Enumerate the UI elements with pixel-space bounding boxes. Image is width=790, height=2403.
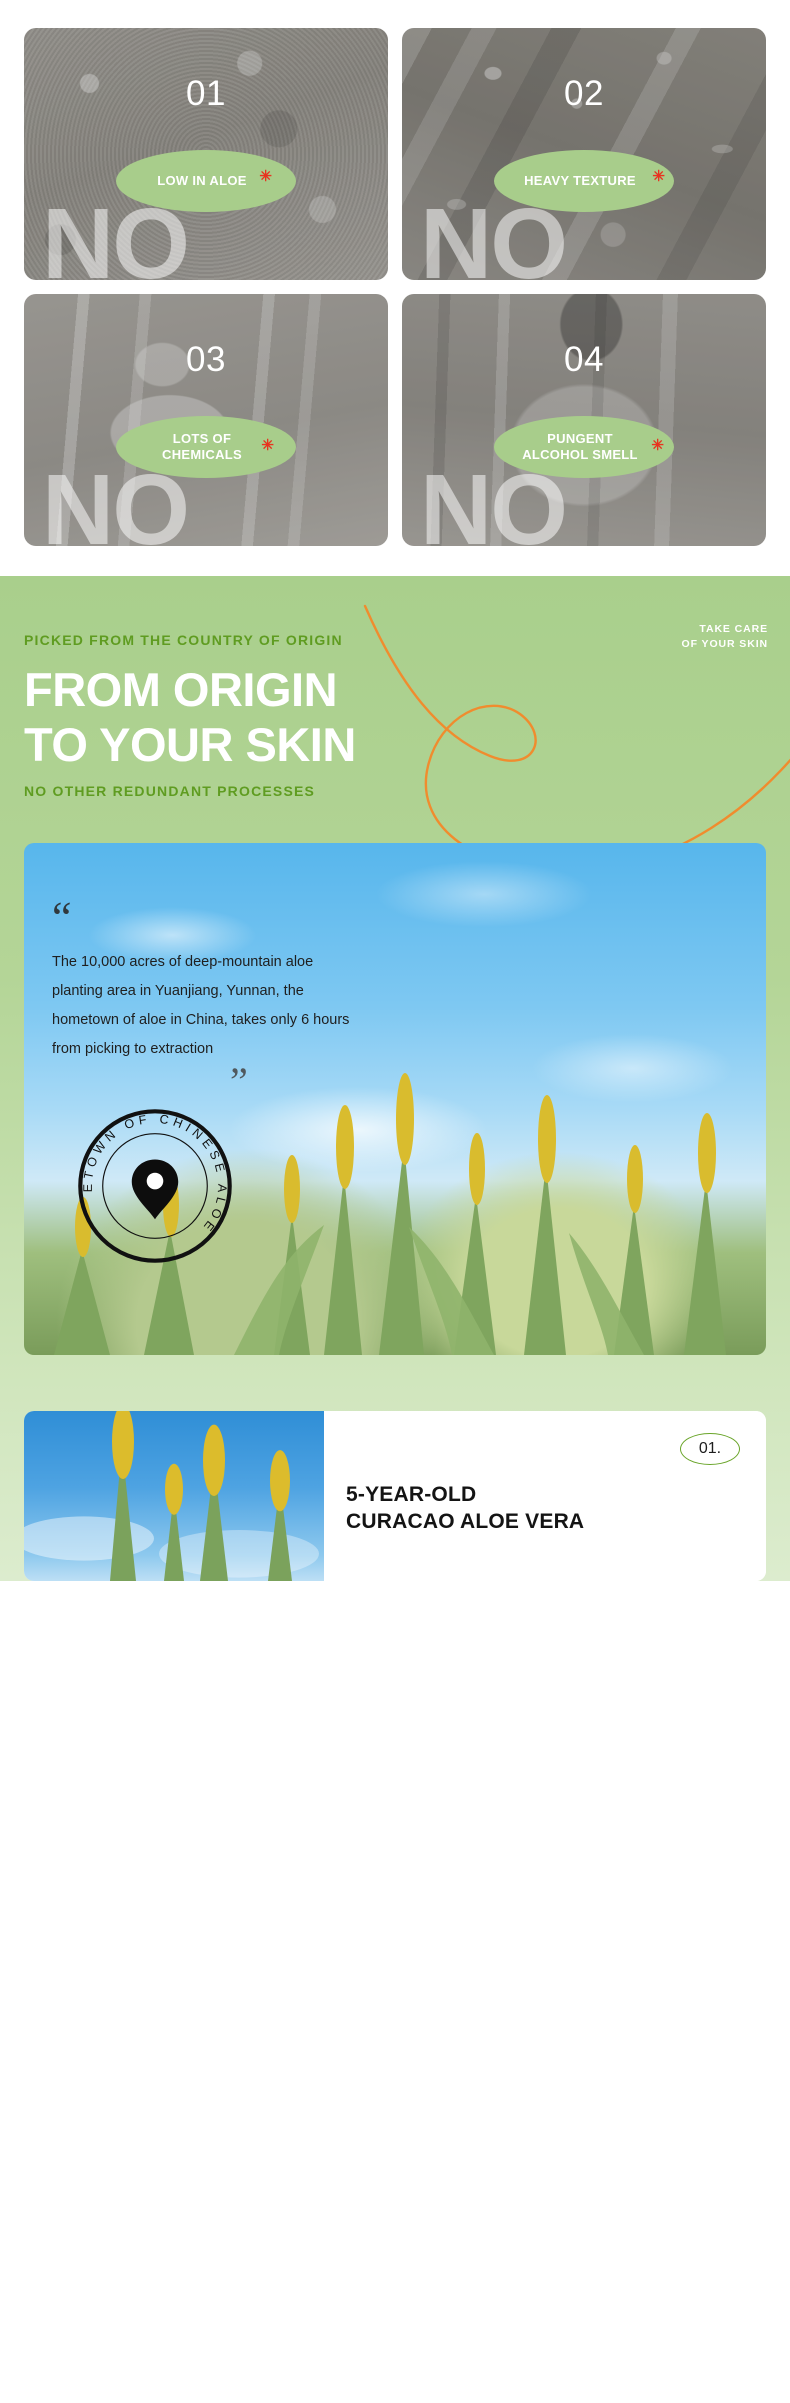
origin-subline: NO OTHER REDUNDANT PROCESSES: [24, 783, 766, 799]
side-note: TAKE CARE OF YOUR SKIN: [682, 622, 768, 652]
origin-hero-card[interactable]: “ The 10,000 acres of deep-mountain aloe…: [24, 843, 766, 1355]
asterisk-icon: ✳: [651, 438, 664, 453]
product-aloe-illustration: [24, 1411, 324, 1581]
aloe-hometown-seal: HOMETOWN OF CHINESE ALOE: [72, 1103, 238, 1269]
problems-section: 01 NO LOW IN ALOE ✳ 02 NO HEAVY TEXTURE …: [0, 0, 790, 576]
asterisk-icon: ✳: [261, 438, 274, 453]
product-info: 01. 5-YEAR-OLD CURACAO ALOE VERA: [324, 1411, 766, 1581]
product-photo-aloe-flowers: [24, 1411, 324, 1581]
origin-content: PICKED FROM THE COUNTRY OF ORIGIN FROM O…: [24, 632, 766, 1581]
card-number: 04: [402, 342, 766, 377]
problem-card-01[interactable]: 01 NO LOW IN ALOE ✳: [24, 28, 388, 280]
asterisk-icon: ✳: [652, 169, 665, 184]
quote-close-mark: ”: [230, 1068, 352, 1096]
product-title: 5-YEAR-OLD CURACAO ALOE VERA: [346, 1481, 742, 1536]
product-card-01[interactable]: 01. 5-YEAR-OLD CURACAO ALOE VERA: [24, 1411, 766, 1581]
origin-quote-block: “ The 10,000 acres of deep-mountain aloe…: [52, 903, 352, 1096]
quote-text: The 10,000 acres of deep-mountain aloe p…: [52, 948, 352, 1064]
card-pill-badge[interactable]: HEAVY TEXTURE ✳: [494, 150, 674, 212]
problem-card-03[interactable]: 03 NO LOTS OF CHEMICALS ✳: [24, 294, 388, 546]
quote-open-mark: “: [52, 903, 352, 934]
problems-grid: 01 NO LOW IN ALOE ✳ 02 NO HEAVY TEXTURE …: [24, 28, 766, 546]
product-index-badge: 01.: [680, 1433, 740, 1465]
origin-title: FROM ORIGIN TO YOUR SKIN: [24, 662, 766, 773]
origin-eyebrow: PICKED FROM THE COUNTRY OF ORIGIN: [24, 632, 766, 648]
card-pill-badge[interactable]: LOW IN ALOE ✳: [116, 150, 296, 212]
asterisk-icon: ✳: [259, 169, 272, 184]
card-pill-badge[interactable]: PUNGENT ALCOHOL SMELL ✳: [494, 416, 674, 478]
problem-card-02[interactable]: 02 NO HEAVY TEXTURE ✳: [402, 28, 766, 280]
problem-card-04[interactable]: 04 NO PUNGENT ALCOHOL SMELL ✳: [402, 294, 766, 546]
card-pill-label: LOW IN ALOE: [149, 173, 262, 189]
card-pill-label: HEAVY TEXTURE: [516, 173, 652, 189]
card-number: 02: [402, 76, 766, 111]
origin-section: TAKE CARE OF YOUR SKIN PICKED FROM THE C…: [0, 576, 790, 1581]
card-number: 01: [24, 76, 388, 111]
location-pin-icon: [132, 1159, 178, 1219]
card-pill-label: LOTS OF CHEMICALS: [154, 431, 258, 464]
card-pill-label: PUNGENT ALCOHOL SMELL: [514, 431, 654, 464]
card-number: 03: [24, 342, 388, 377]
card-pill-badge[interactable]: LOTS OF CHEMICALS ✳: [116, 416, 296, 478]
